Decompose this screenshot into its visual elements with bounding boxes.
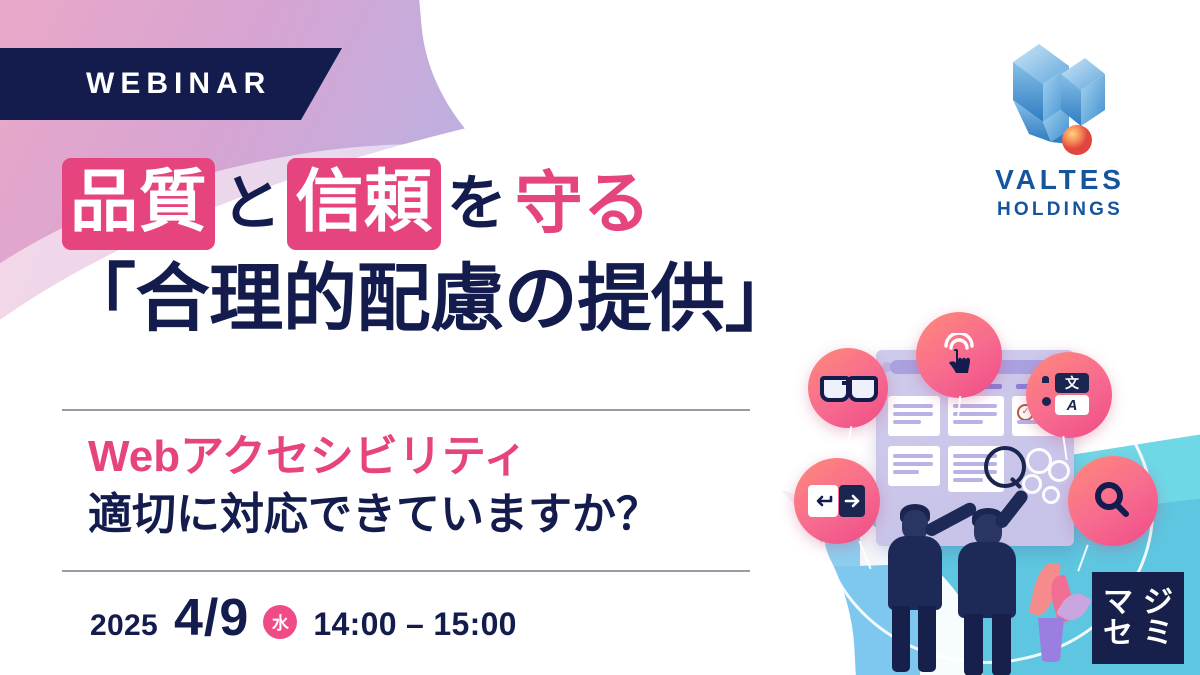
subtitle-line-1: Webアクセシビリティ — [88, 430, 848, 484]
search-icon — [1091, 479, 1135, 523]
person-left — [878, 500, 958, 675]
arrow-right-icon — [844, 494, 862, 508]
subtitle: Webアクセシビリティ 適切に対応できていますか？ — [88, 430, 848, 541]
pin-search — [1068, 456, 1158, 546]
majisemi-char: セ — [1103, 618, 1133, 650]
headline-particle-wo: を — [443, 174, 511, 234]
schedule-year: 2025 — [90, 609, 158, 643]
subtitle-line-2: 適切に対応できていますか？ — [88, 488, 848, 542]
pin-keyboard-navigation — [794, 458, 880, 544]
dashboard-text-line — [893, 420, 921, 424]
schedule-row: 2025 4/9 水 14:00 – 15:00 — [90, 588, 517, 648]
dashboard-text-line — [953, 412, 997, 416]
translate-dot-glyph — [1042, 397, 1051, 406]
arrow-left-icon — [813, 493, 833, 509]
majisemi-char: マ — [1103, 587, 1133, 619]
headline-line-1: 品質 と 信頼 を 守る — [62, 158, 942, 250]
plant-pot — [1038, 618, 1064, 662]
glasses-bridge — [842, 381, 848, 385]
dashboard-text-line — [953, 420, 983, 424]
person-leg — [964, 614, 983, 675]
translate-source-box: 文 — [1055, 373, 1089, 393]
majisemi-char: ジ — [1143, 587, 1173, 619]
translate-person-glyph — [1042, 376, 1049, 383]
translate-target-box: A — [1055, 395, 1089, 415]
gear-icon — [1042, 486, 1060, 504]
valtes-v-icon — [995, 30, 1125, 158]
divider-above-date — [62, 570, 750, 572]
person-leg — [992, 614, 1011, 675]
dashboard-text-line — [893, 462, 933, 466]
dashboard-card — [888, 396, 940, 436]
dashboard-text-line — [893, 470, 919, 474]
webinar-ribbon-label: WEBINAR — [86, 67, 271, 101]
glasses-right-lens — [848, 376, 878, 402]
magnifier-icon — [984, 446, 1026, 488]
schedule-time: 14:00 – 15:00 — [313, 606, 516, 643]
person-leg — [918, 606, 936, 672]
glasses-icon — [820, 376, 876, 400]
headline-highlight-quality: 品質 — [62, 158, 215, 250]
pin-glasses — [808, 348, 888, 428]
valtes-logo-subtitle: HOLDINGS — [962, 199, 1158, 221]
keyboard-navigation-icon — [808, 485, 866, 517]
divider-above-subtitle — [62, 409, 750, 411]
dashboard-text-line — [893, 412, 933, 416]
valtes-logo-name: VALTES — [962, 164, 1158, 196]
person-right — [950, 506, 1036, 675]
dashboard-text-line — [953, 478, 983, 482]
valtes-logo: VALTES HOLDINGS — [962, 30, 1158, 221]
headline-verb-mamoru: 守る — [513, 170, 653, 238]
touch-gesture-icon — [937, 333, 981, 377]
pin-touch-gesture — [916, 312, 1002, 398]
headline-highlight-trust: 信頼 — [287, 158, 440, 250]
dashboard-card — [888, 446, 940, 486]
person-leg — [892, 606, 910, 672]
gear-icon — [1048, 460, 1070, 482]
person-body — [888, 536, 942, 610]
webinar-banner: WEBINAR — [0, 0, 1200, 675]
valtes-mark-icon — [995, 30, 1125, 158]
majisemi-char: ミ — [1143, 618, 1173, 650]
majisemi-logo: マ ジ セ ミ — [1092, 572, 1184, 664]
glasses-left-lens — [820, 376, 850, 402]
webinar-ribbon: WEBINAR — [0, 48, 342, 120]
headline-conjunction-to: と — [217, 174, 285, 234]
pin-translate: 文 A — [1026, 352, 1112, 438]
dashboard-text-line — [893, 454, 933, 458]
person-body — [958, 542, 1016, 618]
dashboard-text-line — [893, 404, 933, 408]
schedule-month-day: 4/9 — [174, 588, 249, 648]
translate-icon: 文 A — [1042, 373, 1096, 417]
schedule-day-of-week-badge: 水 — [263, 605, 297, 639]
